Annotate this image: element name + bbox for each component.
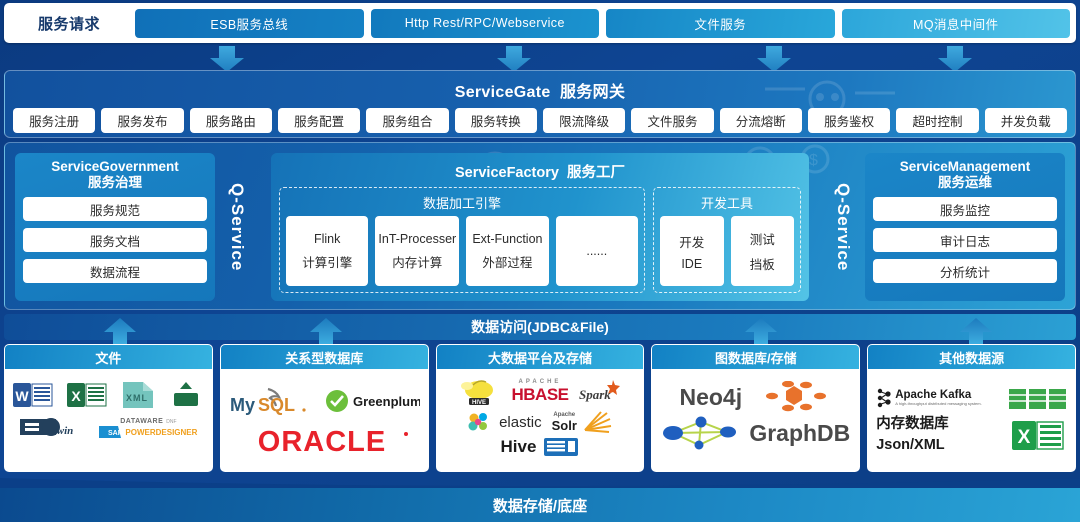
source-card-rdbms-header: 关系型数据库	[221, 345, 428, 369]
engine-cells: Flink 计算引擎 InT-Processer 内存计算 Ext-Functi…	[286, 216, 638, 286]
engine-cell-more[interactable]: ......	[556, 216, 638, 286]
service-factory-title-cn: 服务工厂	[567, 165, 625, 181]
greenplum-logo: Greenplum	[324, 388, 420, 414]
service-government-title-en: ServiceGovernment	[23, 159, 207, 175]
source-card-rdbms: 关系型数据库 My SQL Greenplum	[220, 344, 429, 472]
arrow-down-icon	[497, 46, 531, 72]
gate-chip-timeout-control[interactable]: 超时控制	[896, 108, 978, 133]
gate-chip-service-transform[interactable]: 服务转换	[455, 108, 537, 133]
engine-cell-ext-function[interactable]: Ext-Function 外部过程	[466, 216, 548, 286]
gate-chip-concurrent-load[interactable]: 并发负载	[985, 108, 1067, 133]
q-service-label-right: Q-Service	[833, 183, 853, 271]
service-factory-title: ServiceFactory 服务工厂	[279, 157, 801, 187]
mgmt-row-audit-log[interactable]: 审计日志	[873, 228, 1057, 252]
svg-text:Greenplum: Greenplum	[353, 394, 420, 409]
engine-cell-ext-function-desc: 外部过程	[482, 252, 532, 271]
source-card-other-header: 其他数据源	[868, 345, 1075, 369]
elastic-logo	[467, 412, 493, 432]
svg-text:X: X	[1018, 427, 1031, 448]
arrow-up-icon	[310, 318, 342, 346]
neo4j-logo: Neo4j	[679, 384, 742, 411]
service-government-title: ServiceGovernment 服务治理	[23, 159, 207, 190]
bottom-band: 数据存储/底座	[0, 478, 1080, 522]
service-government-panel: ServiceGovernment 服务治理 服务规范 服务文档 数据流程	[15, 153, 215, 301]
service-request-bar: 服务请求 ESB服务总线 Http Rest/RPC/Webservice 文件…	[4, 3, 1076, 43]
service-government-title-cn: 服务治理	[23, 175, 207, 191]
svg-text:SQL: SQL	[258, 395, 295, 415]
svg-text:SAP: SAP	[108, 430, 121, 437]
source-card-files-body: W X XML	[5, 369, 212, 471]
tools-cell-test-desc: 挡板	[750, 254, 775, 273]
engine-cell-int-processer[interactable]: InT-Processer 内存计算	[375, 216, 459, 286]
neo4j-graph-icon	[661, 413, 741, 453]
inmemory-db-label: 内存数据库	[876, 412, 1005, 433]
servicegate-title-cn: 服务网关	[560, 84, 625, 101]
arrow-down-icon	[210, 46, 244, 72]
servicegate-items: 服务注册 服务发布 服务路由 服务配置 服务组合 服务转换 限流降级 文件服务 …	[5, 102, 1075, 133]
svg-text:W: W	[16, 388, 30, 404]
q-service-label-left: Q-Service	[227, 183, 247, 271]
mgmt-row-service-monitor[interactable]: 服务监控	[873, 197, 1057, 221]
down-arrow-row	[0, 44, 1080, 72]
gate-chip-service-route[interactable]: 服务路由	[190, 108, 272, 133]
svg-text:XML: XML	[126, 393, 148, 403]
source-card-graphdb-header: 图数据库/存储	[652, 345, 859, 369]
hive-logo: Hive	[501, 437, 537, 457]
svg-text:$: $	[809, 152, 818, 169]
source-card-files-header: 文件	[5, 345, 212, 369]
arrow-up-icon	[745, 318, 777, 346]
gate-chip-service-auth[interactable]: 服务鉴权	[808, 108, 890, 133]
elastic-label: elastic	[499, 414, 542, 431]
arrow-down-icon	[938, 46, 972, 72]
tools-cell-test-name: 测试	[750, 229, 775, 248]
gate-chip-circuit-break[interactable]: 分流熔断	[720, 108, 802, 133]
oracle-logo: ORACLE	[234, 424, 414, 458]
gate-chip-service-register[interactable]: 服务注册	[13, 108, 95, 133]
servicegate-panel: ServiceGate 服务网关 服务注册 服务发布 服务路由 服务配置 服务组…	[4, 70, 1076, 138]
gov-row-service-doc[interactable]: 服务文档	[23, 228, 207, 252]
svg-text:ORACLE: ORACLE	[258, 426, 386, 458]
source-card-other: 其他数据源 Apache Kafka A high	[867, 344, 1076, 472]
gate-chip-service-publish[interactable]: 服务发布	[101, 108, 183, 133]
svg-text:X: X	[72, 388, 82, 404]
tools-cell-test-mock[interactable]: 测试 挡板	[731, 216, 795, 286]
svg-text:win: win	[57, 425, 74, 437]
middle-band: $ ServiceGovernment 服务治理 服务规范 服务文档 数据流程 …	[4, 142, 1076, 310]
spark-logo: Spark	[577, 379, 623, 405]
request-tab-file-service[interactable]: 文件服务	[606, 9, 835, 38]
hive-bee-logo: HIVE	[457, 377, 503, 407]
service-request-label: 服务请求	[10, 13, 128, 34]
svg-text:HIVE: HIVE	[472, 400, 486, 406]
engine-cell-int-processer-name: InT-Processer	[378, 232, 456, 246]
source-card-graphdb: 图数据库/存储 Neo4j	[651, 344, 860, 472]
engine-cell-flink-name: Flink	[314, 232, 340, 246]
engine-cell-ext-function-name: Ext-Function	[472, 232, 542, 246]
excel-icon: X	[67, 382, 107, 408]
data-processing-engine-title: 数据加工引擎	[286, 191, 638, 216]
engine-cell-int-processer-desc: 内存计算	[392, 252, 442, 271]
gate-chip-rate-limit[interactable]: 限流降级	[543, 108, 625, 133]
service-management-title: ServiceManagement 服务运维	[873, 159, 1057, 190]
green-table-icon	[1009, 389, 1067, 409]
tools-cell-dev-ide[interactable]: 开发 IDE	[660, 216, 724, 286]
request-tab-esb[interactable]: ESB服务总线	[135, 9, 364, 38]
servicegate-title-en: ServiceGate	[455, 84, 551, 101]
kafka-tagline: A high-throughput distributed messaging …	[895, 401, 982, 406]
servicegate-title: ServiceGate 服务网关	[5, 71, 1075, 102]
service-factory-body: 数据加工引擎 Flink 计算引擎 InT-Processer 内存计算 Ext…	[279, 187, 801, 293]
q-service-label-left-wrap: Q-Service	[219, 153, 255, 301]
gov-row-service-spec[interactable]: 服务规范	[23, 197, 207, 221]
graphdb-logo: GraphDB	[749, 420, 850, 447]
svg-text:Spark: Spark	[579, 387, 611, 402]
bottom-bar-label: 数据存储/底座	[493, 495, 587, 516]
arrow-up-icon	[960, 318, 992, 346]
source-card-bigdata: 大数据平台及存储 HIVE APACHE HBASE	[436, 344, 645, 472]
dataware-logo: DATAWARE	[120, 418, 163, 425]
q-service-label-right-wrap: Q-Service	[825, 153, 861, 301]
data-processing-engine-group: 数据加工引擎 Flink 计算引擎 InT-Processer 内存计算 Ext…	[279, 187, 645, 293]
service-factory-title-en: ServiceFactory	[455, 165, 559, 181]
graphdb-hexagon-icon	[756, 381, 832, 413]
source-card-graphdb-body: Neo4j	[652, 369, 859, 471]
hive-storage-icon	[543, 436, 579, 458]
mgmt-row-analytics[interactable]: 分析统计	[873, 259, 1057, 283]
source-card-bigdata-body: HIVE APACHE HBASE Spark	[437, 369, 644, 471]
tools-cell-dev-desc: IDE	[681, 257, 702, 271]
green-doc-icon	[169, 381, 203, 409]
bottom-bar: 数据存储/底座	[0, 488, 1080, 522]
engine-cell-more-name: ......	[586, 244, 607, 258]
xml-file-icon: XML	[121, 381, 155, 409]
gate-chip-service-compose[interactable]: 服务组合	[366, 108, 448, 133]
source-card-other-body: Apache Kafka A high-throughput distribut…	[868, 369, 1075, 471]
gate-chip-file-service[interactable]: 文件服务	[631, 108, 713, 133]
engine-cell-flink[interactable]: Flink 计算引擎	[286, 216, 368, 286]
engine-cell-flink-desc: 计算引擎	[302, 252, 352, 271]
tools-cell-dev-name: 开发	[679, 232, 704, 251]
erwin-logo: win	[19, 415, 89, 441]
data-access-bar: 数据访问(JDBC&File)	[4, 314, 1076, 340]
json-xml-label: Json/XML	[876, 437, 1005, 453]
source-card-bigdata-header: 大数据平台及存储	[437, 345, 644, 369]
arrow-down-icon	[757, 46, 791, 72]
gov-row-data-flow[interactable]: 数据流程	[23, 259, 207, 283]
request-tab-mq[interactable]: MQ消息中间件	[842, 9, 1071, 38]
dev-tools-cells: 开发 IDE 测试 挡板	[660, 216, 794, 286]
powerdesigner-logo: POWERDESIGNER	[125, 428, 197, 437]
dev-tools-group: 开发工具 开发 IDE 测试 挡板	[653, 187, 801, 293]
excel-icon: X	[1012, 419, 1064, 451]
hbase-logo: HBASE	[511, 385, 568, 405]
sap-logo: SAP	[99, 426, 121, 438]
service-management-panel: ServiceManagement 服务运维 服务监控 审计日志 分析统计	[865, 153, 1065, 301]
service-factory-panel: ServiceFactory 服务工厂 数据加工引擎 Flink 计算引擎 In…	[271, 153, 809, 301]
solr-sun-icon	[583, 410, 613, 434]
source-card-rdbms-body: My SQL Greenplum ORACLE	[221, 369, 428, 471]
solr-logo: Solr	[552, 418, 577, 433]
arrow-up-icon	[104, 318, 136, 346]
gate-chip-service-config[interactable]: 服务配置	[278, 108, 360, 133]
word-icon: W	[13, 382, 53, 408]
diagram-root: 服务请求 ESB服务总线 Http Rest/RPC/Webservice 文件…	[0, 0, 1080, 522]
dev-tools-title: 开发工具	[660, 191, 794, 216]
service-management-title-en: ServiceManagement	[873, 159, 1057, 175]
kafka-label: Apache Kafka	[895, 389, 982, 401]
mysql-logo: My SQL	[228, 386, 312, 416]
kafka-logo	[876, 388, 892, 408]
source-card-files: 文件 W X	[4, 344, 213, 472]
svg-text:My: My	[230, 395, 255, 415]
request-tab-http-rest[interactable]: Http Rest/RPC/Webservice	[371, 9, 600, 38]
source-cards-row: 文件 W X	[4, 344, 1076, 472]
service-management-title-cn: 服务运维	[873, 175, 1057, 191]
